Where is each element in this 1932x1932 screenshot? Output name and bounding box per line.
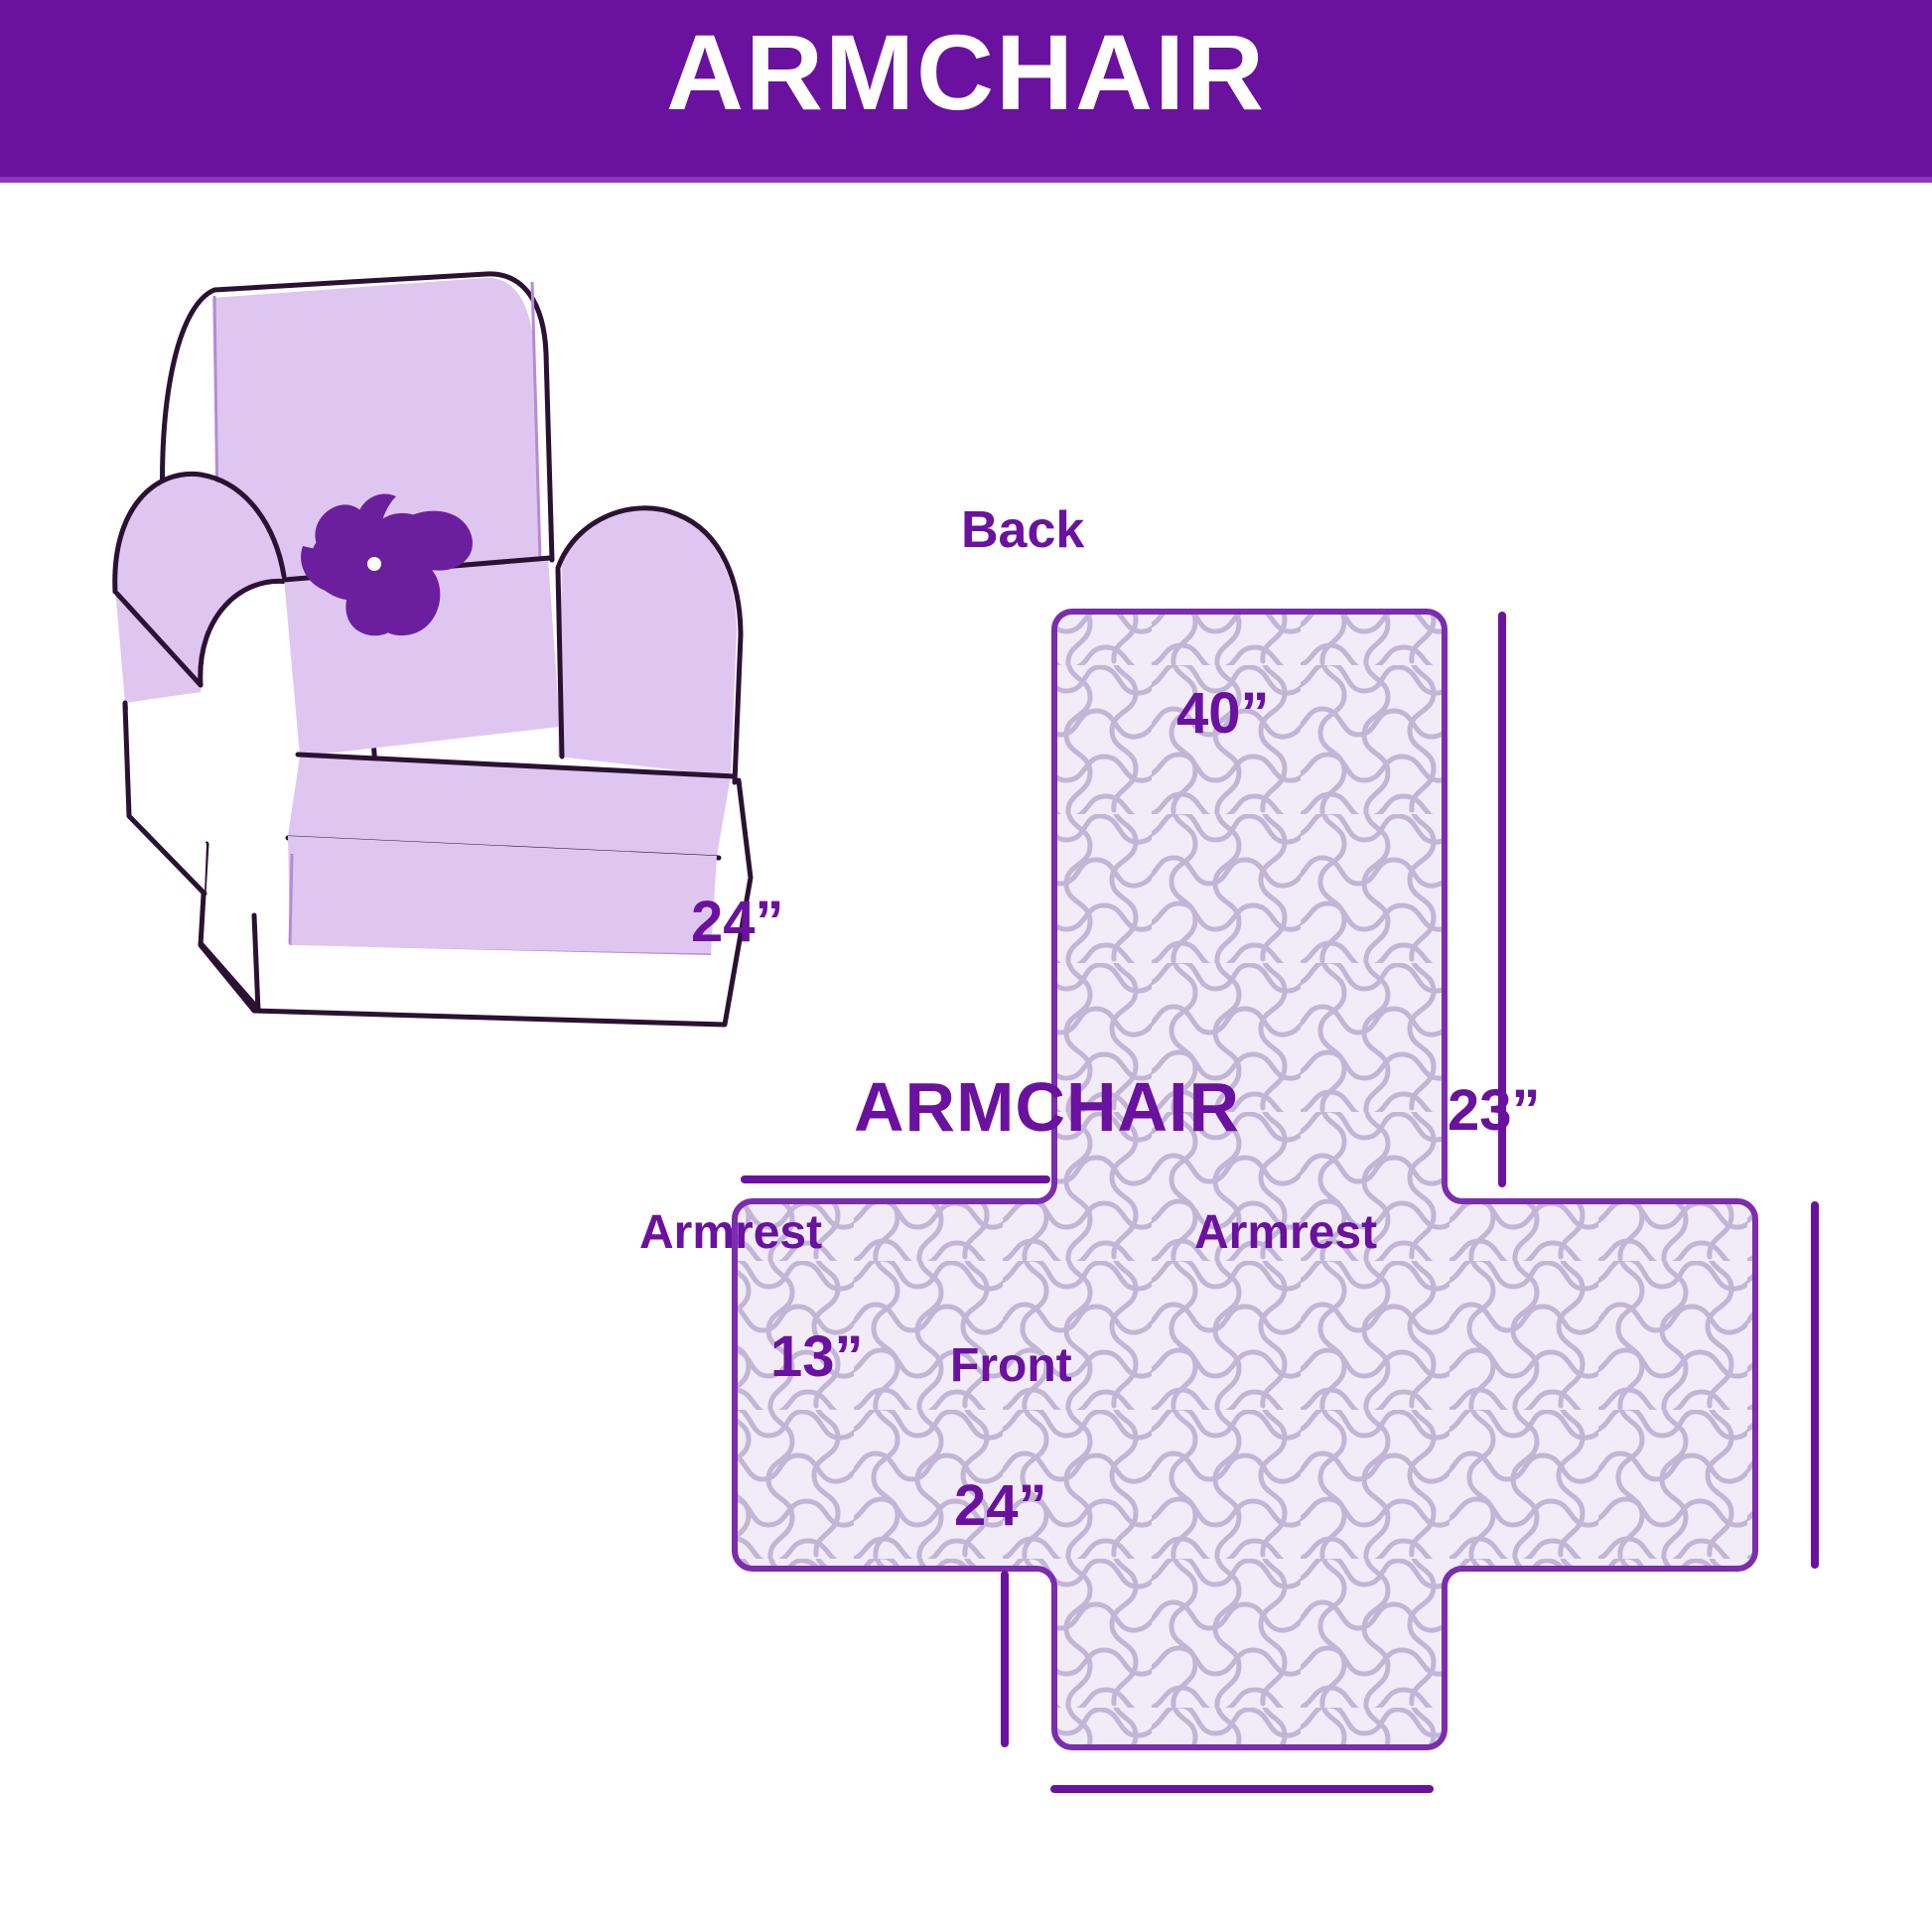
panel-label-armrest-left: Armrest [639,1209,822,1257]
dimension-label-back-height: 40” [1176,685,1270,743]
dimension-label-back-width: 24” [691,894,784,951]
header-banner-lower [0,145,1932,181]
dimension-label-front-height: 13” [770,1328,864,1386]
panel-label-back: Back [961,504,1084,556]
product-size-diagram-page: ARMCHAIR .ch-fill{fill:#DFC6F0;} .ch-whi… [0,0,1932,1932]
header-banner: ARMCHAIR [0,0,1932,145]
panel-label-center: ARMCHAIR [854,1072,1240,1142]
panel-label-armrest-right: Armrest [1194,1209,1377,1257]
panel-label-front: Front [950,1342,1072,1390]
page-title: ARMCHAIR [666,19,1266,126]
dimension-label-armrest-depth: 23” [1448,1082,1541,1140]
header-banner-accent-line [0,177,1932,183]
dimension-label-front-width: 24” [954,1477,1047,1535]
